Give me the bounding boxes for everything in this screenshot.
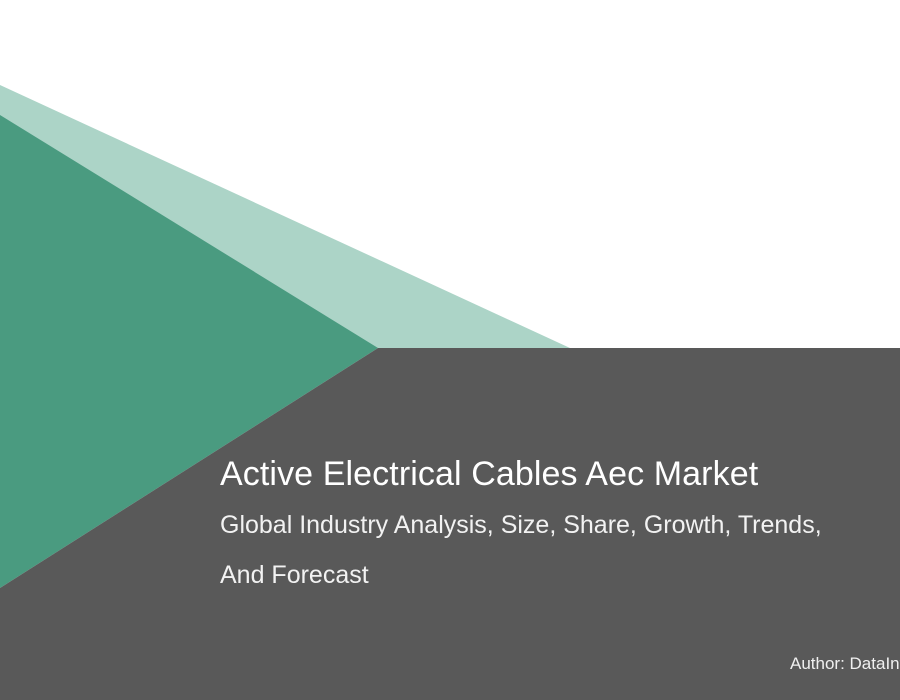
slide-subtitle-line-1: Global Industry Analysis, Size, Share, G… bbox=[220, 500, 900, 550]
title-slide: Active Electrical Cables Aec Market Glob… bbox=[0, 0, 900, 700]
page-title: Active Electrical Cables Aec Market bbox=[220, 448, 900, 500]
author-label: Author: DataIntelo bbox=[790, 652, 900, 676]
slide-text-block: Active Electrical Cables Aec Market Glob… bbox=[220, 448, 900, 600]
slide-subtitle-line-2: And Forecast bbox=[220, 550, 900, 600]
